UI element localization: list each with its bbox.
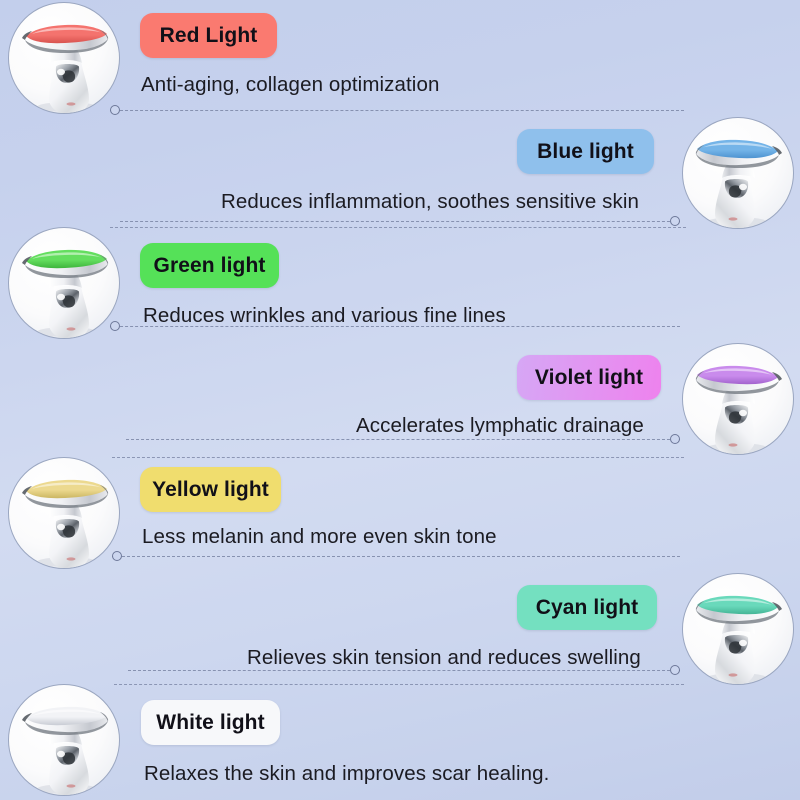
connector-line-3 [110, 321, 680, 332]
description-red: Anti-aging, collagen optimization [141, 73, 439, 97]
device-illustration [683, 574, 794, 685]
connector-node-icon [670, 434, 680, 444]
badge-yellow[interactable]: Yellow light [140, 467, 281, 512]
connector-dash [112, 556, 680, 557]
connector-node-icon [670, 216, 680, 226]
section-divider-1 [110, 227, 686, 228]
device-illustration [9, 685, 120, 796]
connector-line-5 [112, 551, 680, 562]
product-photo-green [8, 227, 120, 339]
description-blue: Reduces inflammation, soothes sensitive … [221, 190, 639, 214]
product-photo-white [8, 684, 120, 796]
device-illustration [9, 228, 120, 339]
connector-dash [110, 110, 684, 111]
badge-cyan[interactable]: Cyan light [517, 585, 657, 630]
description-yellow: Less melanin and more even skin tone [142, 525, 497, 549]
connector-dash [128, 670, 680, 671]
section-divider-3 [114, 684, 684, 685]
connector-dash [126, 439, 680, 440]
device-illustration [9, 458, 120, 569]
section-divider-2 [112, 457, 684, 458]
badge-red[interactable]: Red Light [140, 13, 277, 58]
product-photo-red [8, 2, 120, 114]
connector-node-icon [670, 665, 680, 675]
badge-violet[interactable]: Violet light [517, 355, 661, 400]
badge-green[interactable]: Green light [140, 243, 279, 288]
device-illustration [683, 344, 794, 455]
connector-line-6 [128, 665, 680, 676]
connector-line-4 [126, 434, 680, 445]
device-illustration [9, 3, 120, 114]
product-photo-yellow [8, 457, 120, 569]
product-photo-violet [682, 343, 794, 455]
connector-line-2 [120, 216, 680, 227]
connector-node-icon [112, 551, 122, 561]
product-photo-cyan [682, 573, 794, 685]
connector-line-1 [110, 105, 684, 116]
device-illustration [683, 118, 794, 229]
description-white: Relaxes the skin and improves scar heali… [144, 762, 549, 786]
badge-white[interactable]: White light [141, 700, 280, 745]
connector-dash [120, 221, 680, 222]
badge-blue[interactable]: Blue light [517, 129, 654, 174]
infographic-canvas: Red LightAnti-aging, collagen optimizati… [0, 0, 800, 800]
connector-dash [110, 326, 680, 327]
connector-node-icon [110, 105, 120, 115]
connector-node-icon [110, 321, 120, 331]
product-photo-blue [682, 117, 794, 229]
